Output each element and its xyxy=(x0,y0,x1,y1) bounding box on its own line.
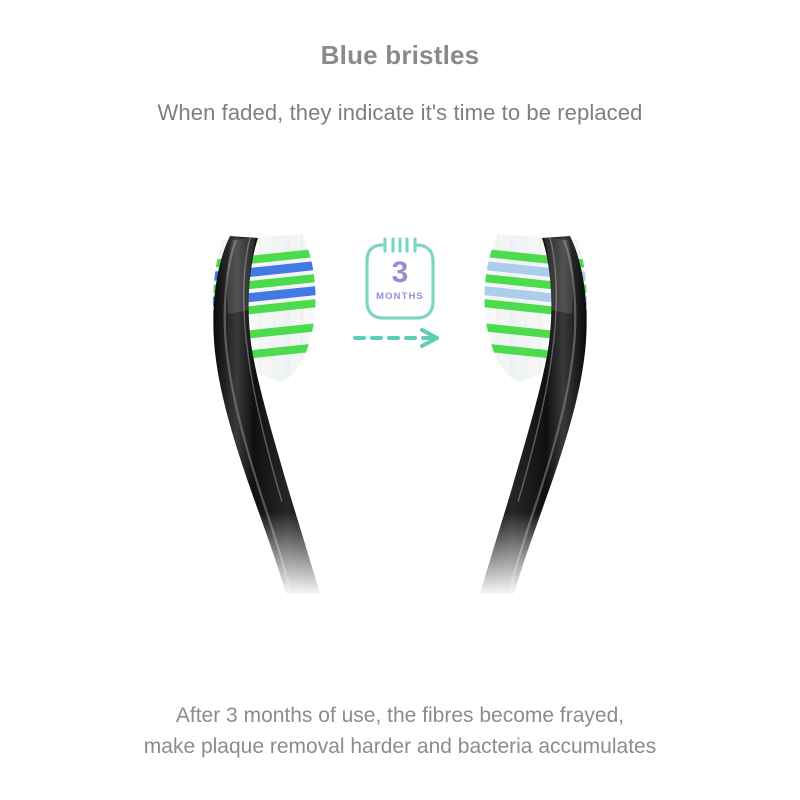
badge-unit-label: MONTHS xyxy=(352,291,448,302)
caption-line-1: After 3 months of use, the fibres become… xyxy=(0,700,800,731)
product-feature-graphic: Blue bristles When faded, they indicate … xyxy=(0,0,800,800)
replacement-interval-badge: 3 MONTHS xyxy=(352,232,448,358)
badge-number: 3 xyxy=(352,256,448,290)
bottom-caption: After 3 months of use, the fibres become… xyxy=(0,700,800,762)
page-title: Blue bristles xyxy=(0,40,800,71)
page-subtitle: When faded, they indicate it's time to b… xyxy=(0,100,800,126)
dashed-arrow-right-icon xyxy=(355,330,437,346)
caption-line-2: make plaque removal harder and bacteria … xyxy=(0,731,800,762)
